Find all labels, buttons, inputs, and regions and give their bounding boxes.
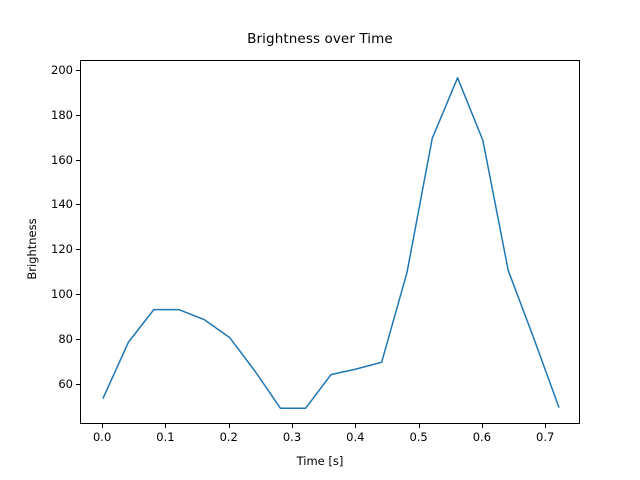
x-tick-mark [102, 424, 103, 428]
y-tick-label: 140 [51, 197, 73, 211]
x-tick-label: 0.3 [283, 430, 301, 444]
y-tick-label: 80 [58, 332, 73, 346]
y-tick-mark [76, 384, 80, 385]
plot-axes-area [80, 60, 580, 424]
y-tick-label: 100 [51, 287, 73, 301]
x-tick-label: 0.7 [536, 430, 554, 444]
y-tick-label: 160 [51, 153, 73, 167]
y-tick-mark [76, 70, 80, 71]
chart-figure: Brightness over Time 6080100120140160180… [0, 0, 640, 480]
x-tick-mark [165, 424, 166, 428]
y-axis-label: Brightness [25, 189, 39, 309]
x-tick-label: 0.4 [346, 430, 364, 444]
y-tick-label: 60 [58, 377, 73, 391]
x-axis-label: Time [s] [0, 454, 640, 468]
x-tick-mark [482, 424, 483, 428]
x-tick-label: 0.2 [220, 430, 238, 444]
x-tick-label: 0.6 [473, 430, 491, 444]
brightness-line [103, 78, 559, 408]
x-tick-mark [292, 424, 293, 428]
y-tick-mark [76, 160, 80, 161]
x-tick-mark [419, 424, 420, 428]
y-tick-mark [76, 204, 80, 205]
y-tick-label: 120 [51, 242, 73, 256]
y-tick-label: 180 [51, 108, 73, 122]
x-tick-mark [355, 424, 356, 428]
x-tick-mark [229, 424, 230, 428]
x-tick-label: 0.5 [409, 430, 427, 444]
y-tick-mark [76, 249, 80, 250]
x-tick-mark [545, 424, 546, 428]
y-tick-label: 200 [51, 63, 73, 77]
y-tick-mark [76, 294, 80, 295]
x-tick-label: 0.1 [156, 430, 174, 444]
x-axis-tick-labels: 0.00.10.20.30.40.50.60.7 [0, 430, 640, 450]
y-tick-mark [76, 339, 80, 340]
line-series-svg [81, 61, 581, 425]
y-tick-mark [76, 115, 80, 116]
chart-title: Brightness over Time [0, 31, 640, 47]
x-tick-label: 0.0 [93, 430, 111, 444]
